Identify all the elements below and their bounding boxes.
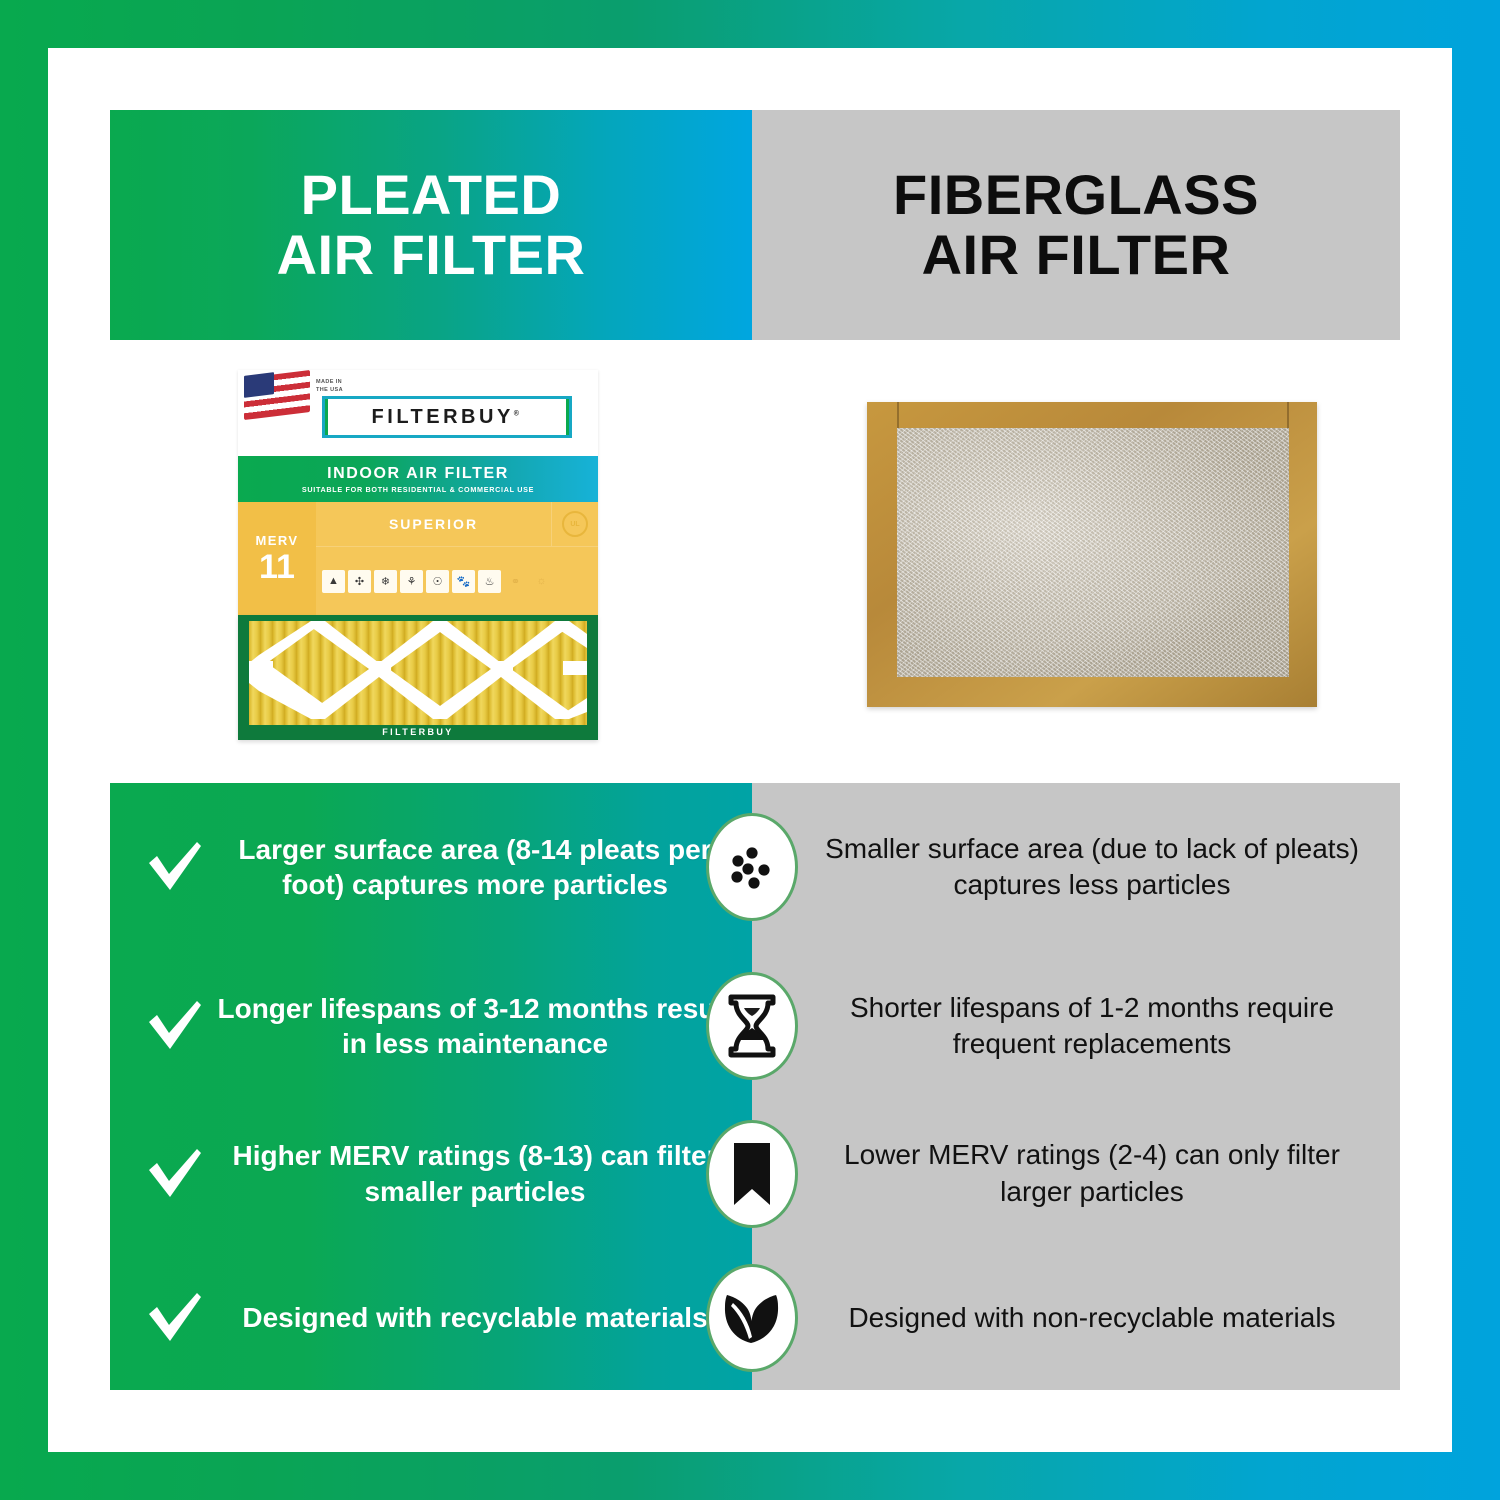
ul-listed-mark: UL (551, 502, 598, 546)
frame-seam-left (897, 402, 899, 428)
hourglass-icon (706, 972, 798, 1080)
mold-spore-icon: ⚘ (400, 570, 423, 593)
pleated-filter-label-card: MADE IN THE USA FILTERBUY® INDOOR AIR FI… (238, 370, 598, 615)
odor-icon: ☼ (530, 570, 553, 593)
pleated-label-spec: MERV 11 SUPERIOR UL ▲ ✣ ❄ (238, 502, 598, 615)
header-fiberglass-line1: FIBERGLASS (893, 163, 1259, 226)
bacteria-icon: ☉ (426, 570, 449, 593)
header-pleated-line2: AIR FILTER (277, 223, 586, 286)
comparison-row-3: Higher MERV ratings (8-13) can filter sm… (110, 1101, 1400, 1246)
outer-gradient-frame: PLEATED AIR FILTER FIBERGLASS AIR FILTER… (0, 0, 1500, 1500)
row-4-icon-slot (704, 1262, 800, 1374)
header-fiberglass: FIBERGLASS AIR FILTER (752, 110, 1400, 340)
comparison-row-1: Larger surface area (8-14 pleats per foo… (110, 783, 1400, 951)
dust-mite-icon: ✣ (348, 570, 371, 593)
merv-badge: MERV 11 (238, 502, 316, 615)
row-3-icon-slot (704, 1118, 800, 1230)
lint-icon: ▲ (322, 570, 345, 593)
comparison-row-4: Designed with recyclable materials Desig… (110, 1246, 1400, 1390)
row-1-right-text: Smaller surface area (due to lack of ple… (752, 831, 1400, 904)
checkmark-icon (138, 995, 212, 1057)
header-pleated: PLEATED AIR FILTER (110, 110, 752, 340)
comparison-table: Larger surface area (8-14 pleats per foo… (110, 783, 1400, 1390)
brand-trademark: ® (514, 410, 523, 417)
particles-icon (706, 813, 798, 921)
usa-flag-canton-icon (244, 372, 274, 398)
pet-dander-icon: 🐾 (452, 570, 475, 593)
merv-label: MERV (256, 533, 299, 548)
row-2-left-text: Longer lifespans of 3-12 months result i… (212, 991, 738, 1062)
pleat-media (249, 621, 587, 725)
row-2-icon-slot (704, 970, 800, 1082)
leaf-sprout-icon (706, 1264, 798, 1372)
row-1-left-text: Larger surface area (8-14 pleats per foo… (212, 832, 738, 903)
indoor-air-filter-title: INDOOR AIR FILTER (327, 465, 509, 483)
frame-seam-right (1287, 402, 1289, 428)
row-3-right-text: Lower MERV ratings (2-4) can only filter… (752, 1137, 1400, 1210)
pleated-label-top: MADE IN THE USA FILTERBUY® (238, 370, 598, 456)
smoke-icon: ♨ (478, 570, 501, 593)
row-1-icon-slot (704, 811, 800, 923)
ribbon-bookmark-icon (706, 1120, 798, 1228)
row-1-left-cell: Larger surface area (8-14 pleats per foo… (110, 783, 752, 951)
header-pleated-title: PLEATED AIR FILTER (277, 165, 586, 286)
filterbuy-logo-text: FILTERBUY® (372, 406, 523, 429)
header-fiberglass-line2: AIR FILTER (922, 223, 1231, 286)
header-fiberglass-title: FIBERGLASS AIR FILTER (893, 165, 1259, 286)
tier-label: SUPERIOR (316, 516, 551, 532)
support-wire-grid-icon (249, 621, 587, 725)
fiberglass-mesh-media (897, 428, 1289, 677)
pleated-footer-brand: FILTERBUY (238, 727, 598, 737)
pleated-label-band: INDOOR AIR FILTER SUITABLE FOR BOTH RESI… (238, 456, 598, 502)
ul-icon: UL (562, 511, 588, 537)
comparison-row-2: Longer lifespans of 3-12 months result i… (110, 951, 1400, 1101)
filterbuy-logo-box: FILTERBUY® (322, 396, 572, 438)
brand-name: FILTERBUY (372, 406, 514, 428)
product-images-band: MADE IN THE USA FILTERBUY® INDOOR AIR FI… (110, 340, 1400, 780)
checkmark-icon (138, 1143, 212, 1205)
fiberglass-cardboard-frame (867, 402, 1317, 707)
checkmark-icon (138, 1287, 212, 1349)
fiberglass-filter-image (867, 402, 1317, 707)
pollen-icon: ❄ (374, 570, 397, 593)
row-3-left-text: Higher MERV ratings (8-13) can filter sm… (212, 1138, 738, 1209)
made-in-line2: THE USA (316, 387, 343, 393)
header-pleated-line1: PLEATED (301, 163, 562, 226)
merv-value: 11 (259, 550, 295, 584)
headers-row: PLEATED AIR FILTER FIBERGLASS AIR FILTER (110, 110, 1400, 340)
pleated-filter-image: MADE IN THE USA FILTERBUY® INDOOR AIR FI… (238, 370, 598, 740)
row-2-right-text: Shorter lifespans of 1-2 months require … (752, 990, 1400, 1063)
checkmark-icon (138, 836, 212, 898)
row-2-left-cell: Longer lifespans of 3-12 months result i… (110, 951, 752, 1101)
row-4-left-text: Designed with recyclable materials (212, 1300, 738, 1335)
indoor-air-filter-subtitle: SUITABLE FOR BOTH RESIDENTIAL & COMMERCI… (302, 485, 534, 494)
row-4-left-cell: Designed with recyclable materials (110, 1246, 752, 1390)
row-3-left-cell: Higher MERV ratings (8-13) can filter sm… (110, 1101, 752, 1246)
virus-icon: ⚭ (504, 570, 527, 593)
row-4-right-text: Designed with non-recyclable materials (752, 1300, 1400, 1336)
made-in-usa-text: MADE IN THE USA (316, 378, 343, 395)
feature-icon-strip: ▲ ✣ ❄ ⚘ ☉ 🐾 ♨ ⚭ ☼ (316, 547, 598, 615)
made-in-line1: MADE IN (316, 379, 342, 385)
pleated-media-body: FILTERBUY (238, 615, 598, 740)
